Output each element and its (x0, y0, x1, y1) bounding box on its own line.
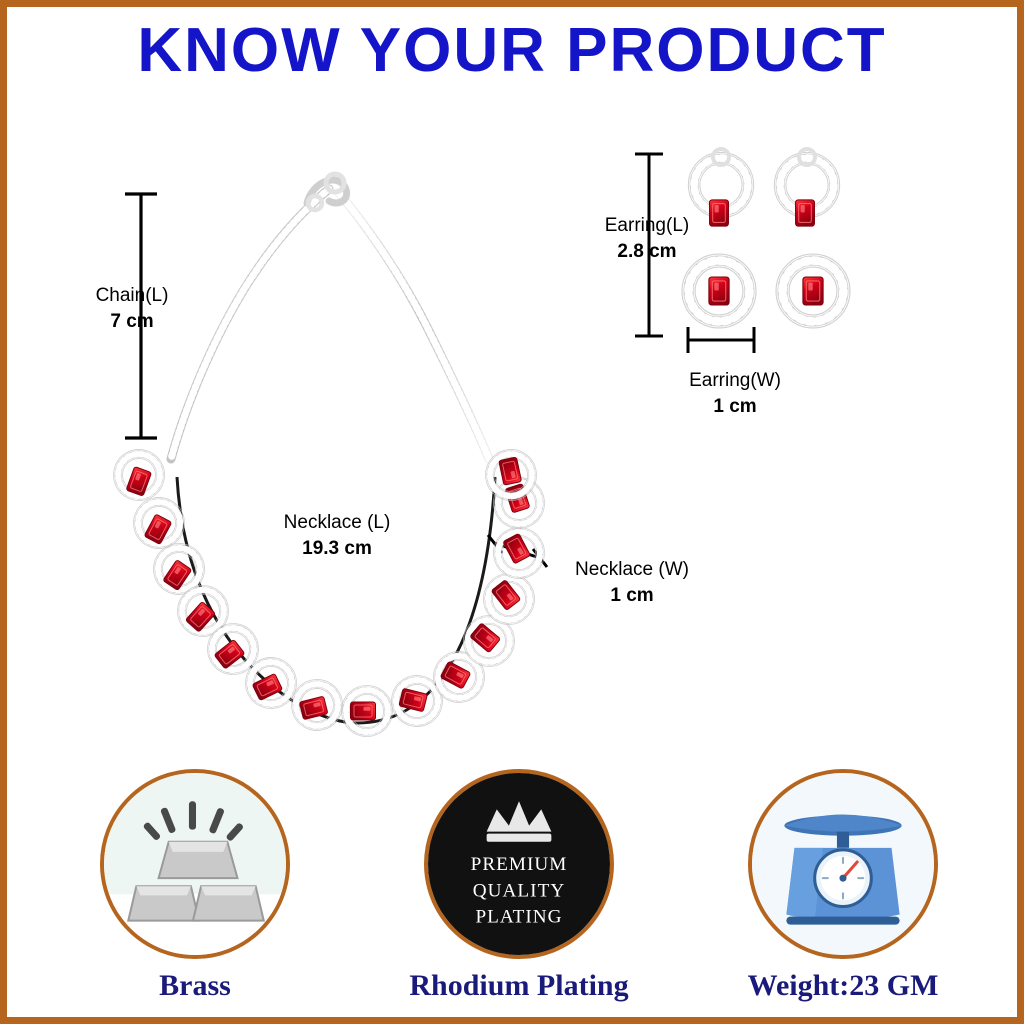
weighing-scale-icon (752, 773, 934, 955)
feature-brass: Brass (45, 769, 345, 1003)
earring-left (682, 149, 756, 328)
necklace-ring-garland (106, 442, 553, 736)
feature-weight: Weight:23 GM (693, 769, 993, 1003)
plating-caption: Rhodium Plating (369, 969, 669, 1003)
plating-line-3: PLATING (475, 907, 562, 928)
plating-line-2: QUALITY (473, 880, 565, 901)
plating-line-1: PREMIUM (471, 854, 568, 875)
brass-icon-circle (100, 769, 290, 959)
product-info-card: KNOW YOUR PRODUCT Chain(L) 7 cm Necklace… (0, 0, 1024, 1024)
weight-caption: Weight:23 GM (693, 969, 993, 1003)
earring-length-dimension (635, 153, 663, 337)
feature-plating: PREMIUM QUALITY PLATING Rhodium Plating (369, 769, 669, 1003)
earring-right (774, 149, 850, 328)
earring-width-dimension (687, 327, 755, 353)
plating-icon-circle: PREMIUM QUALITY PLATING (424, 769, 614, 959)
crown-badge-icon: PREMIUM QUALITY PLATING (428, 773, 610, 955)
chain-length-dimension (125, 193, 157, 439)
necklace-chain (171, 174, 489, 459)
weight-icon-circle (748, 769, 938, 959)
brass-caption: Brass (45, 969, 345, 1003)
metal-bars-icon (104, 773, 286, 955)
